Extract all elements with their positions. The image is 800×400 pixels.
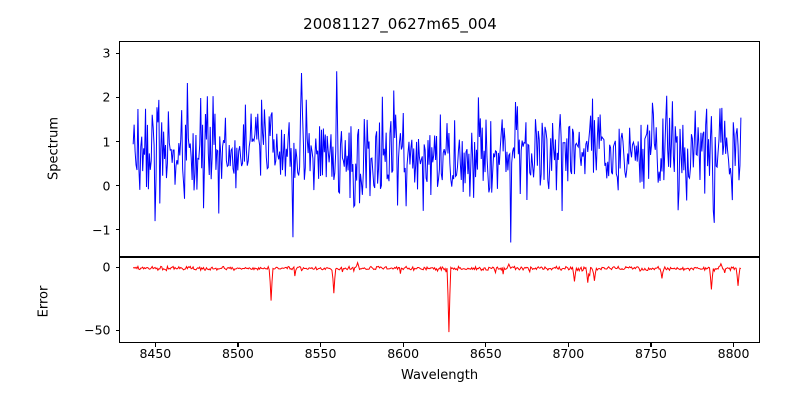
spectrum-y-tick — [116, 141, 120, 142]
figure-title: 20081127_0627m65_004 — [0, 14, 800, 34]
error-line-series — [120, 258, 759, 342]
figure-canvas: 20081127_0627m65_004 −10123−500845085008… — [0, 0, 800, 400]
error-y-tick — [116, 330, 120, 331]
x-tick-label: 8450 — [139, 346, 171, 361]
spectrum-axes — [119, 41, 760, 257]
y-axis-label-error: Error — [37, 242, 52, 362]
x-tick-label: 8700 — [552, 346, 584, 361]
error-axes — [119, 257, 760, 343]
spectrum-y-tick — [116, 53, 120, 54]
y-axis-label-spectrum: Spectrum — [47, 89, 62, 209]
spectrum-line-series — [120, 42, 759, 256]
error-y-tick — [116, 267, 120, 268]
x-tick-label: 8750 — [635, 346, 667, 361]
spectrum-y-tick-label: 3 — [40, 46, 111, 61]
x-tick-label: 8600 — [387, 346, 419, 361]
spectrum-y-tick-label: −1 — [40, 222, 111, 237]
spectrum-y-tick — [116, 97, 120, 98]
x-tick-label: 8550 — [305, 346, 337, 361]
spectrum-y-tick — [116, 185, 120, 186]
x-axis-label: Wavelength — [119, 368, 760, 383]
x-tick-label: 8650 — [470, 346, 502, 361]
x-tick-label: 8500 — [222, 346, 254, 361]
x-tick-label: 8800 — [718, 346, 750, 361]
spectrum-y-tick — [116, 229, 120, 230]
